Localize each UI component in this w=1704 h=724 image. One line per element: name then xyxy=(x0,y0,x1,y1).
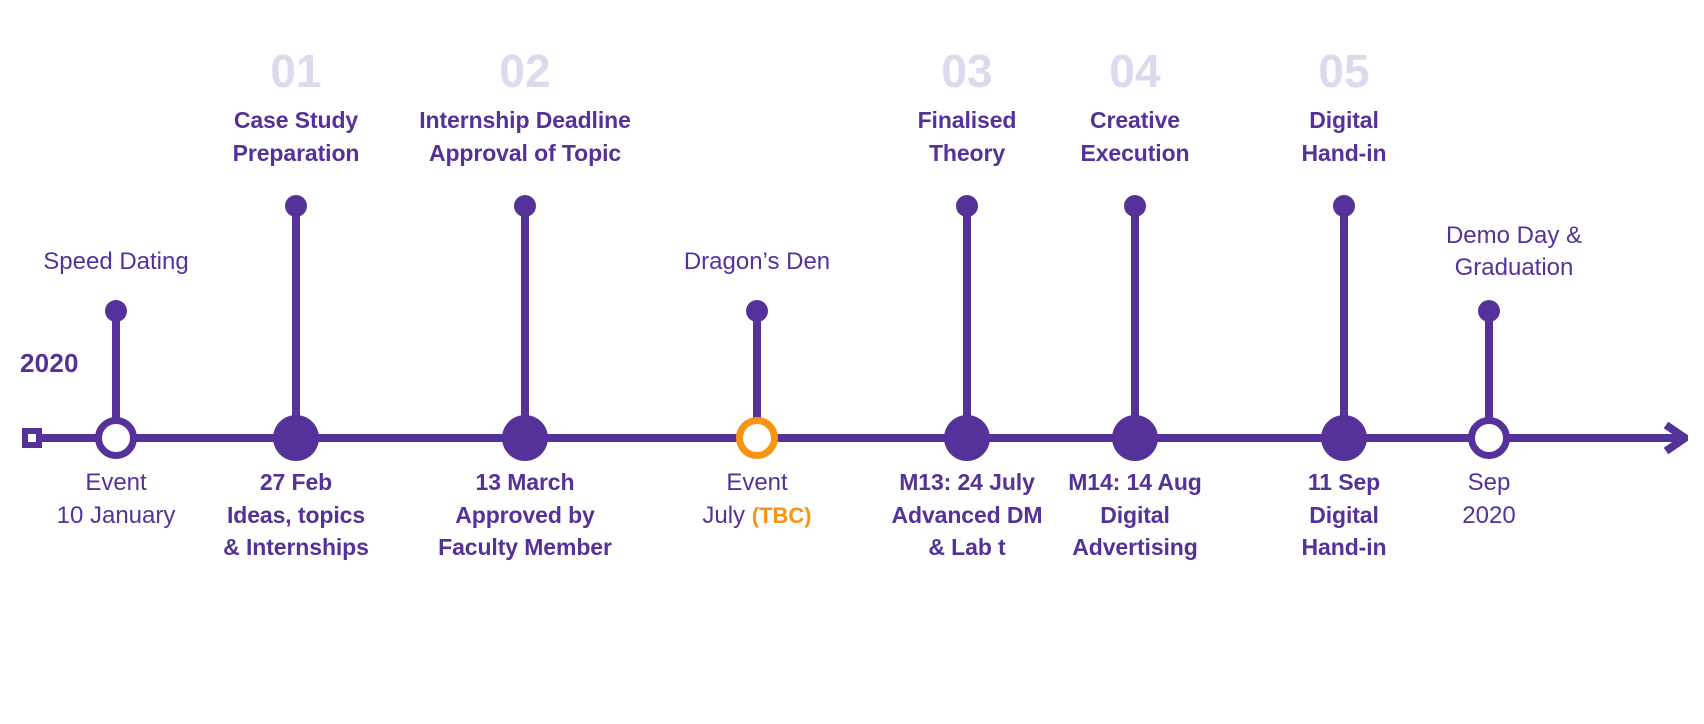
milestone-stem xyxy=(521,206,529,438)
milestone-stem-dot xyxy=(1124,195,1146,217)
milestone-stem xyxy=(292,206,300,438)
milestone-stem-dot xyxy=(956,195,978,217)
milestone-stem-dot xyxy=(105,300,127,322)
milestone-node-solid[interactable] xyxy=(273,415,319,461)
milestone-node-solid[interactable] xyxy=(944,415,990,461)
milestone-stem-dot xyxy=(746,300,768,322)
milestone-stem xyxy=(1131,206,1139,438)
milestone-node-hollow[interactable] xyxy=(1468,417,1510,459)
milestone-node-solid[interactable] xyxy=(502,415,548,461)
milestone-stem xyxy=(963,206,971,438)
milestone-title-line-2: Graduation xyxy=(1369,252,1659,284)
tbc-badge: (TBC) xyxy=(752,503,812,528)
milestone-bottom-block: Sep 2020 xyxy=(1319,466,1659,532)
milestone-sub-line-2: 2020 xyxy=(1319,499,1659,532)
timeline-infographic: 2020 Speed Dating Event 10 January 01 Ca… xyxy=(0,0,1704,724)
milestone-stem-dot xyxy=(285,195,307,217)
milestone-title-line-1: Demo Day & xyxy=(1369,220,1659,252)
milestone-sub-month: July xyxy=(702,502,751,529)
milestone-node-solid[interactable] xyxy=(1112,415,1158,461)
milestone-top-block: Demo Day & Graduation xyxy=(1369,220,1659,285)
milestone-node-hollow[interactable] xyxy=(95,417,137,459)
milestone-demo-day-graduation[interactable]: Demo Day & Graduation Sep 2020 xyxy=(1319,0,1659,724)
milestone-stem-dot xyxy=(1478,300,1500,322)
milestone-stem-dot xyxy=(514,195,536,217)
milestone-node-hollow-accent[interactable] xyxy=(736,417,778,459)
milestone-sub-line-1: Sep xyxy=(1319,466,1659,499)
